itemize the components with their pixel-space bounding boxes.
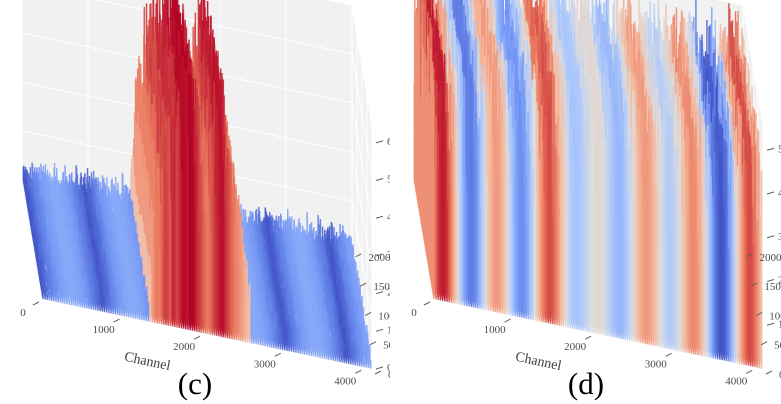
subplot-c: FFN Input 010002000300040000500100015002… — [0, 0, 390, 404]
panel-c-axes-3d: 0100020003000400005001000150020000102030… — [0, 0, 390, 404]
figure-container: FFN Input 010002000300040000500100015002… — [0, 0, 781, 404]
